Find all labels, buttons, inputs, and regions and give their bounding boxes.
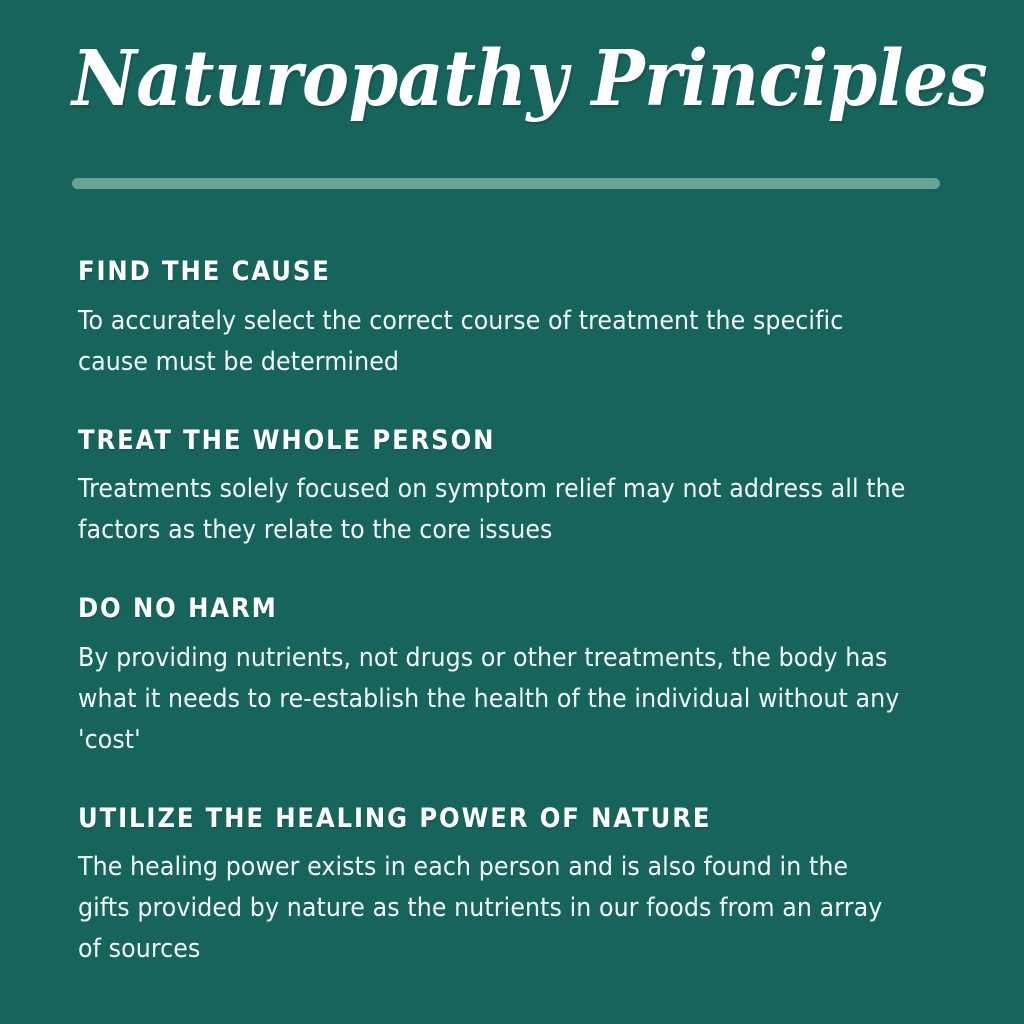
principles-list: FIND THE CAUSE To accurately select the … — [78, 258, 968, 970]
principle-body: To accurately select the correct course … — [78, 301, 906, 383]
page-title: Naturopathy Principles — [72, 40, 882, 119]
principle-item-do-no-harm: DO NO HARM By providing nutrients, not d… — [78, 595, 968, 761]
principle-body: By providing nutrients, not drugs or oth… — [78, 638, 906, 761]
principle-item-treat-the-whole-person: TREAT THE WHOLE PERSON Treatments solely… — [78, 427, 968, 552]
principle-heading: UTILIZE THE HEALING POWER OF NATURE — [78, 805, 879, 834]
principle-heading: TREAT THE WHOLE PERSON — [78, 427, 879, 456]
principle-body: Treatments solely focused on symptom rel… — [78, 469, 906, 551]
principle-heading: DO NO HARM — [78, 595, 879, 624]
title-divider — [72, 178, 940, 189]
principle-item-find-the-cause: FIND THE CAUSE To accurately select the … — [78, 258, 968, 383]
principle-heading: FIND THE CAUSE — [78, 258, 879, 287]
poster-canvas: Naturopathy Principles FIND THE CAUSE To… — [0, 0, 1024, 1024]
principle-body: The healing power exists in each person … — [78, 847, 906, 970]
principle-item-utilize-the-healing-power-of-nature: UTILIZE THE HEALING POWER OF NATURE The … — [78, 805, 968, 971]
title-block: Naturopathy Principles — [72, 40, 952, 119]
